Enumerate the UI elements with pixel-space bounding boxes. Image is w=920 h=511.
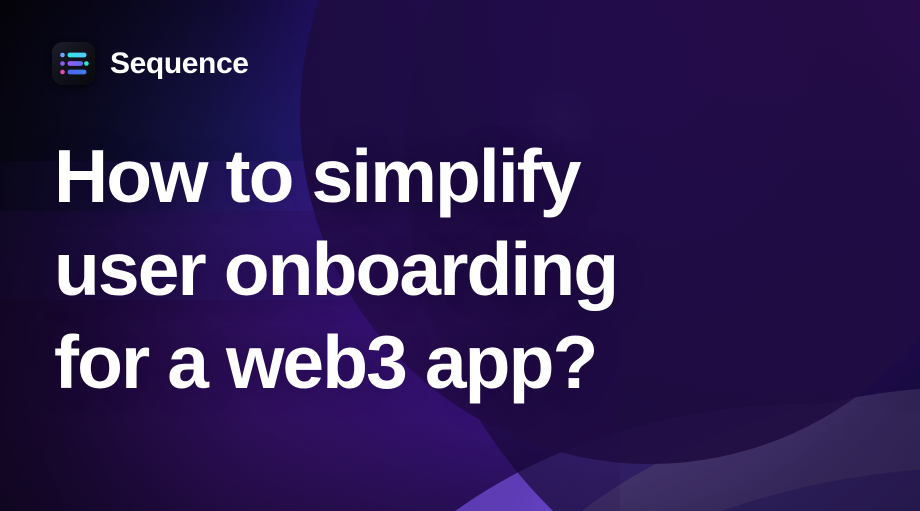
headline-line-3: for a web3 app? <box>54 316 617 409</box>
headline: How to simplify user onboarding for a we… <box>54 130 617 409</box>
brand-lockup: Sequence <box>52 42 249 85</box>
headline-line-1: How to simplify <box>54 130 617 223</box>
promo-card: Sequence How to simplify user onboarding… <box>0 0 920 511</box>
brand-name: Sequence <box>110 49 249 79</box>
card-content: Sequence How to simplify user onboarding… <box>0 0 920 511</box>
headline-line-2: user onboarding <box>54 223 617 316</box>
sequence-rows-logo-icon <box>52 42 95 85</box>
